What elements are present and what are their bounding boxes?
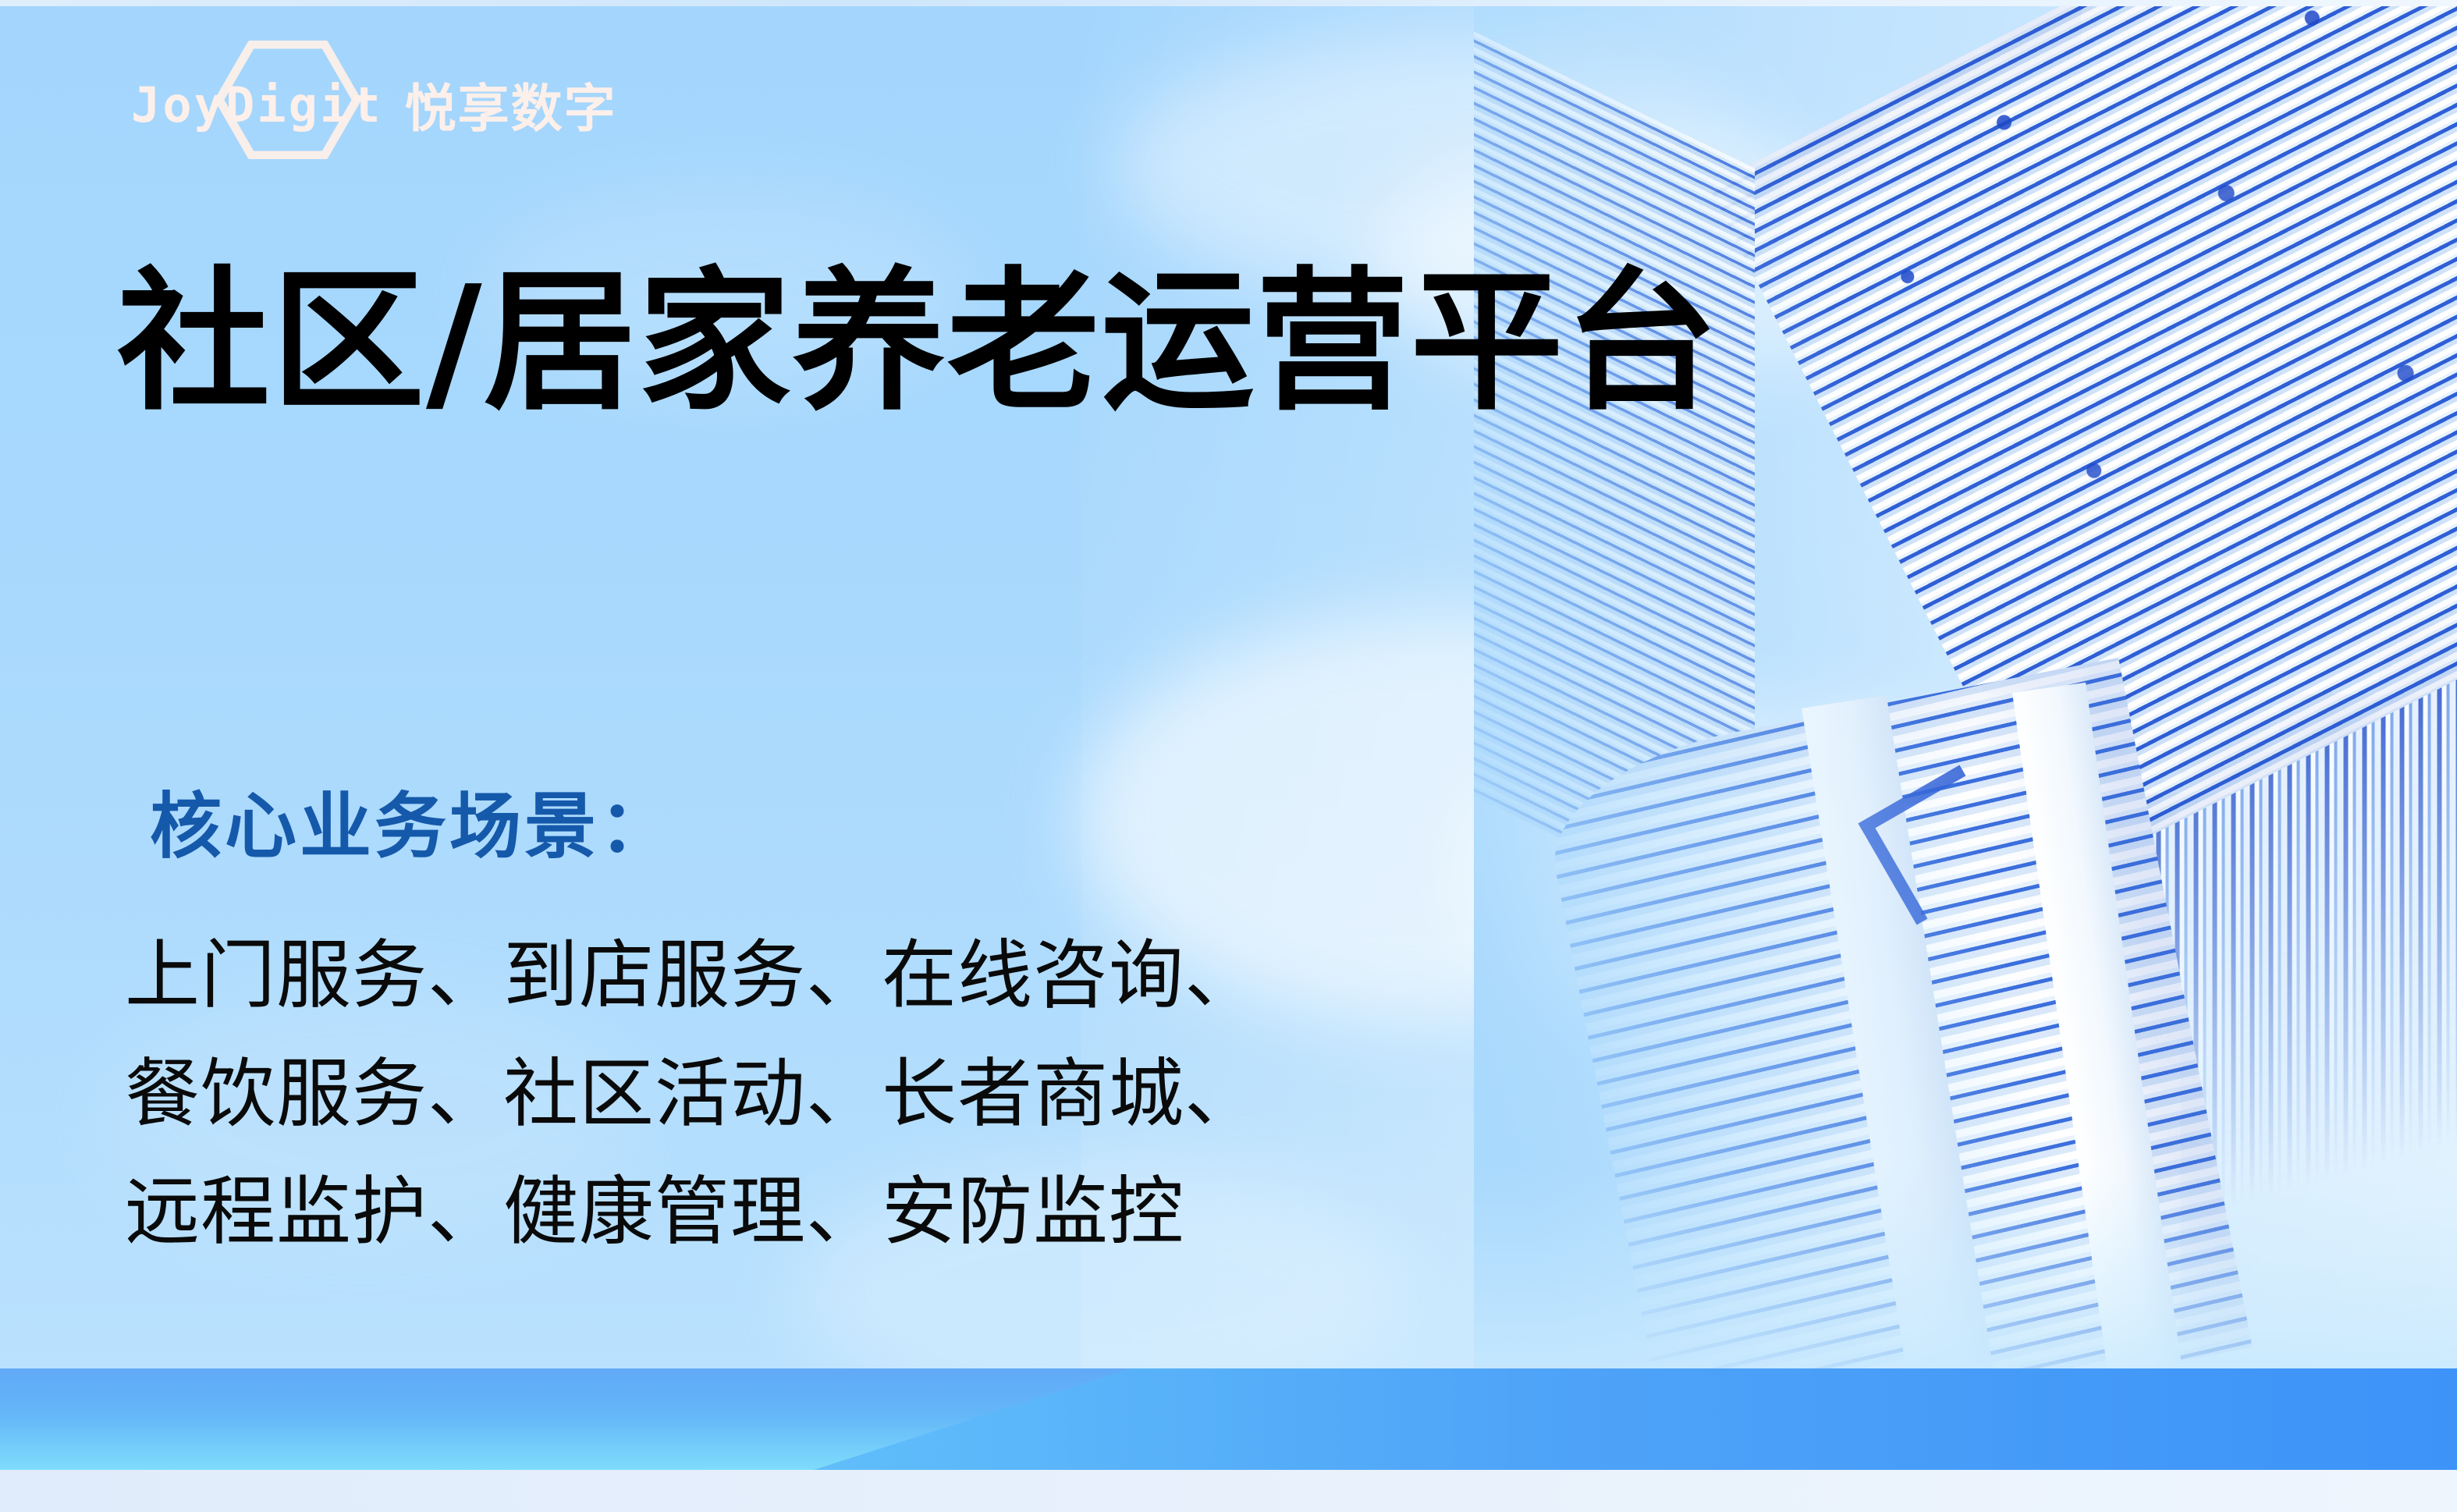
scenario-line: 远程监护、健康管理、安防监控 [125,1153,1260,1272]
section-subtitle: 核心业务场景： [150,768,674,872]
page-title: 社区/居家养老运营平台 [117,257,1720,429]
scenario-list: 上门服务、到店服务、在线咨询、 餐饮服务、社区活动、长者商城、 远程监护、健康管… [125,917,1260,1272]
top-edge-strip [0,0,2457,6]
slide-canvas: JoyDigit 悦享数字 社区/居家养老运营平台 核心业务场景： 上门服务、到… [0,0,2457,1512]
scenario-line: 餐饮服务、社区活动、长者商城、 [125,1035,1260,1154]
logo-latin-text: JoyDigit [131,76,383,133]
skyscraper-photo [1474,6,2457,1372]
logo-chinese-text: 悦享数字 [405,67,617,142]
brand-logo[interactable]: JoyDigit 悦享数字 [131,67,617,142]
logo-mark: JoyDigit [131,76,383,133]
band-shapes [0,1368,2457,1470]
bottom-decorative-band [0,1325,2457,1512]
scenario-line: 上门服务、到店服务、在线咨询、 [125,917,1260,1035]
